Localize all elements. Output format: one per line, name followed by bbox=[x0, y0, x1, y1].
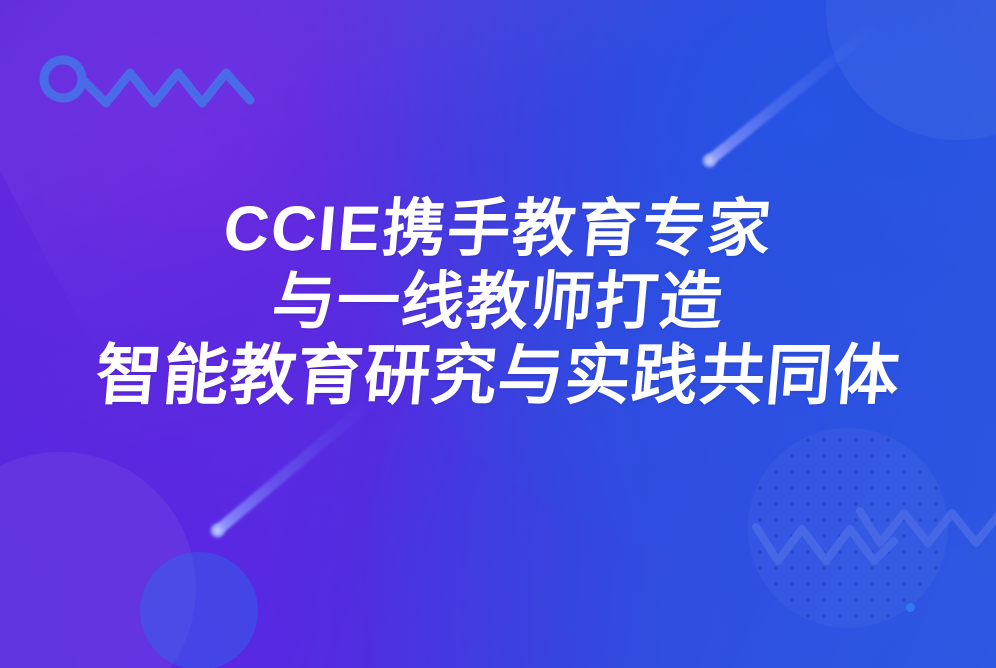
circle-small-bottom-left-icon bbox=[140, 552, 258, 668]
zigzag-bottom-right-lower-icon bbox=[752, 521, 898, 575]
headline-line-1: CCIE携手教育专家 bbox=[0, 193, 996, 266]
comet-top-right-icon bbox=[703, 21, 881, 168]
dotted-circle-bottom-right-icon bbox=[748, 428, 948, 628]
zigzag-bottom-right-upper-icon bbox=[856, 505, 996, 557]
zigzag-circle-top-left-icon bbox=[36, 48, 256, 110]
headline-line-3: 智能教育研究与实践共同体 bbox=[0, 339, 996, 412]
circle-top-right-icon bbox=[826, 0, 996, 140]
comet-bottom-left-icon bbox=[210, 398, 374, 538]
headline-block: CCIE携手教育专家 与一线教师打造 智能教育研究与实践共同体 bbox=[0, 193, 996, 412]
accent-dot-icon bbox=[906, 603, 915, 612]
promo-banner: CCIE携手教育专家 与一线教师打造 智能教育研究与实践共同体 bbox=[0, 0, 996, 668]
headline-line-2: 与一线教师打造 bbox=[0, 266, 996, 339]
circle-large-bottom-left-icon bbox=[0, 452, 196, 668]
